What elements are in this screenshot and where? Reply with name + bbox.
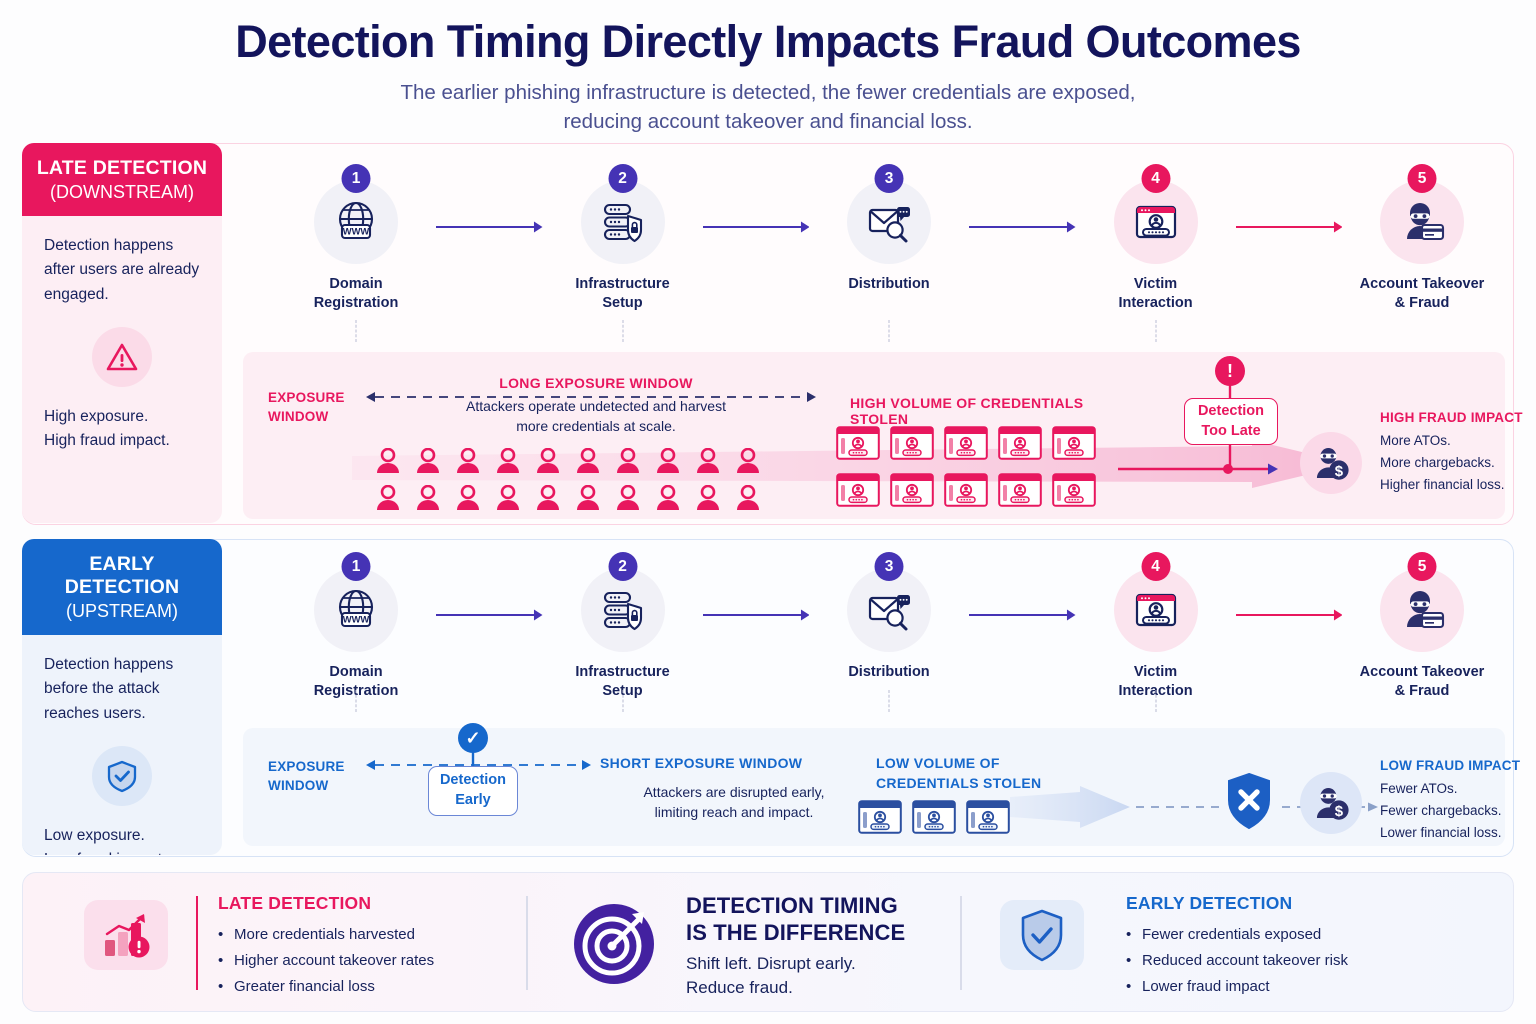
person-icon [694, 448, 722, 474]
late-step-distribution[interactable]: 3 Distribution [809, 168, 969, 294]
credential-card-icon [836, 473, 880, 512]
step-label-5-line2: & Fraud [1360, 294, 1485, 313]
svg-text:WWW: WWW [343, 226, 370, 237]
early-window-title: SHORT EXPOSURE WINDOW [600, 755, 860, 771]
early-window-text-1: Attackers are disrupted early, [598, 782, 870, 802]
person-icon [574, 448, 604, 479]
person-icon [734, 485, 762, 511]
person-icon [734, 448, 762, 474]
detection-early-line-2: Early [455, 791, 490, 811]
early-flow-ramp [1010, 786, 1130, 828]
step-tick-1 [356, 320, 357, 342]
step-label-4-line1: Victim [1118, 275, 1192, 294]
early-impact-title: LOW FRAUD IMPACT [1380, 758, 1520, 773]
late-step-account-takeover[interactable]: 5 Account Takeover & Fraud [1342, 168, 1502, 313]
early-step-account-takeover[interactable]: 5 Account Takeover & Fraud [1342, 556, 1502, 701]
person-icon [454, 485, 484, 516]
person-icon [574, 485, 602, 511]
summary-early-item-3: Lower fraud impact [1126, 974, 1426, 1000]
early-pipeline: 1 WWW Domain Registration [276, 556, 1502, 701]
step-label-4: Victim Interaction [1118, 275, 1192, 313]
late-side-footer-1: High exposure. [44, 405, 200, 429]
early-step-tick-4 [1155, 690, 1156, 712]
person-icon [374, 448, 404, 479]
person-icon [734, 448, 764, 479]
summary-late-item-1: More credentials harvested [218, 922, 518, 948]
early-impact-item-3: Lower financial loss. [1380, 822, 1502, 844]
summary-early-column [1000, 900, 1084, 970]
person-icon [414, 448, 444, 479]
person-icon [454, 485, 482, 511]
person-icon [654, 485, 684, 516]
summary-middle-title-2: IS THE DIFFERENCE [686, 920, 936, 947]
early-step-label-5-line1: Account Takeover [1360, 663, 1485, 682]
late-side-description: Detection happens after users are alread… [44, 234, 200, 307]
person-icon [494, 448, 524, 479]
credential-card-icon [1052, 473, 1096, 512]
early-step-badge-5: 5 [1408, 552, 1437, 581]
svg-text:$: $ [1335, 463, 1344, 480]
summary-middle-content: DETECTION TIMING IS THE DIFFERENCE Shift… [686, 893, 936, 999]
step-label-1-line2: Registration [314, 294, 399, 313]
summary-late-column [84, 900, 168, 970]
person-icon [534, 448, 562, 474]
early-step-domain-registration[interactable]: 1 WWW Domain Registration [276, 556, 436, 701]
svg-text:WWW: WWW [343, 614, 370, 625]
detection-too-late-line-2: Too Late [1201, 422, 1260, 442]
step-label-1-line1: Domain [314, 275, 399, 294]
late-detection-side-card: LATE DETECTION (DOWNSTREAM) Detection ha… [22, 143, 222, 523]
person-icon [734, 485, 764, 516]
summary-late-item-3: Greater financial loss [218, 974, 518, 1000]
late-impact-title: HIGH FRAUD IMPACT [1380, 410, 1523, 425]
person-icon [374, 485, 404, 516]
target-dart-icon [570, 898, 658, 991]
early-step-victim-interaction[interactable]: 4 Victim Interaction [1076, 556, 1236, 701]
step-label-3: Distribution [848, 275, 929, 294]
early-connector-3 [969, 556, 1076, 622]
credential-card-icon [998, 426, 1042, 465]
step-label-5: Account Takeover & Fraud [1360, 275, 1485, 313]
early-step-label-5-line2: & Fraud [1360, 682, 1485, 701]
person-icon [574, 485, 604, 516]
late-volume-title: HIGH VOLUME OF CREDENTIALS STOLEN [850, 395, 1110, 427]
infographic-root: Detection Timing Directly Impacts Fraud … [0, 0, 1536, 1024]
summary-early-title: EARLY DETECTION [1126, 893, 1426, 914]
step-badge-1: 1 [342, 164, 371, 193]
early-step-badge-4: 4 [1141, 552, 1170, 581]
late-step-victim-interaction[interactable]: 4 Victim Interaction [1076, 168, 1236, 313]
summary-middle-sub-2: Reduce fraud. [686, 977, 936, 999]
late-side-title: LATE DETECTION [32, 157, 212, 180]
early-step-badge-2: 2 [608, 552, 637, 581]
early-credential-cards [858, 800, 1018, 839]
summary-early-item-1: Fewer credentials exposed [1126, 922, 1426, 948]
person-icon [614, 448, 644, 479]
late-connector-1 [436, 168, 543, 234]
step-badge-4: 4 [1141, 164, 1170, 193]
person-icon [414, 485, 444, 516]
late-window-text-2: more credentials at scale. [426, 416, 766, 436]
early-connector-4 [1236, 556, 1343, 622]
person-icon [374, 448, 402, 474]
person-icon [694, 485, 724, 516]
person-icon [414, 485, 442, 511]
step-label-2-line1: Infrastructure [575, 275, 669, 294]
summary-early-content: EARLY DETECTION Fewer credentials expose… [1126, 893, 1426, 999]
late-exposure-line-1: EXPOSURE [268, 388, 345, 407]
early-dashed-left [1136, 800, 1226, 814]
credential-card-icon [912, 800, 956, 839]
early-side-footer-1: Low exposure. [44, 824, 200, 848]
detection-early-box[interactable]: Detection Early [428, 766, 518, 816]
detection-too-late-box[interactable]: Detection Too Late [1184, 398, 1278, 445]
person-icon [534, 485, 564, 516]
page-subtitle: The earlier phishing infrastructure is d… [0, 78, 1536, 136]
late-pipeline: 1 WWW Domain Registration [276, 168, 1502, 313]
early-step-label-4-line1: Victim [1118, 663, 1192, 682]
early-step-label-1-line1: Domain [314, 663, 399, 682]
step-tick-4 [1155, 320, 1156, 342]
early-exposure-window-label: EXPOSURE WINDOW [268, 757, 345, 795]
early-side-body: Detection happens before the attack reac… [22, 635, 222, 855]
summary-early-list: Fewer credentials exposed Reduced accoun… [1126, 922, 1426, 999]
person-icon [454, 448, 482, 474]
early-step-distribution[interactable]: 3 Distribution [809, 556, 969, 682]
early-step-infrastructure-setup[interactable]: 2 Infrastructure Setup [543, 556, 703, 701]
person-icon [654, 448, 682, 474]
person-icon [534, 448, 564, 479]
credential-card-icon [966, 800, 1010, 839]
person-icon [454, 448, 484, 479]
person-icon [614, 448, 642, 474]
step-label-2: Infrastructure Setup [575, 275, 669, 313]
late-impact-list: More ATOs. More chargebacks. Higher fina… [1380, 430, 1505, 496]
late-side-footer-2: High fraud impact. [44, 429, 200, 453]
summary-divider-1 [526, 896, 528, 990]
early-side-description: Detection happens before the attack reac… [44, 653, 200, 726]
summary-middle-sub-1: Shift left. Disrupt early. [686, 953, 936, 975]
early-impact-item-2: Fewer chargebacks. [1380, 800, 1502, 822]
rising-chart-alert-icon [84, 900, 168, 970]
early-exposure-line-2: WINDOW [268, 776, 345, 795]
late-connector-2 [703, 168, 810, 234]
step-badge-3: 3 [875, 164, 904, 193]
credential-card-icon [944, 473, 988, 512]
person-icon [654, 485, 682, 511]
late-exposure-line-2: WINDOW [268, 407, 345, 426]
early-step-label-3-line1: Distribution [848, 663, 929, 682]
summary-late-divider [196, 896, 198, 990]
exclamation-icon: ! [1215, 356, 1245, 386]
early-step-badge-3: 3 [875, 552, 904, 581]
person-icon [414, 448, 442, 474]
late-credential-cards [836, 426, 1096, 512]
early-side-subtitle: (UPSTREAM) [32, 601, 212, 622]
summary-late-content: LATE DETECTION More credentials harveste… [218, 893, 518, 999]
person-icon [494, 485, 522, 511]
step-badge-5: 5 [1408, 164, 1437, 193]
early-step-tick-2 [622, 690, 623, 712]
late-impact-item-2: More chargebacks. [1380, 452, 1505, 474]
svg-text:$: $ [1335, 803, 1344, 820]
early-impact-item-1: Fewer ATOs. [1380, 778, 1502, 800]
late-impact-item-1: More ATOs. [1380, 430, 1505, 452]
summary-early-item-2: Reduced account takeover risk [1126, 948, 1426, 974]
person-icon [694, 448, 724, 479]
late-side-subtitle: (DOWNSTREAM) [32, 182, 212, 203]
late-side-header: LATE DETECTION (DOWNSTREAM) [22, 143, 222, 216]
early-step-badge-1: 1 [342, 552, 371, 581]
early-side-title: EARLY DETECTION [32, 553, 212, 599]
late-window-text: Attackers operate undetected and harvest… [426, 396, 766, 437]
shield-check-icon [1000, 900, 1084, 970]
page-title: Detection Timing Directly Impacts Fraud … [0, 16, 1536, 68]
late-window-text-1: Attackers operate undetected and harvest [426, 396, 766, 416]
late-step-domain-registration[interactable]: 1 WWW Domain Registration [276, 168, 436, 313]
hacker-money-icon: $ [1300, 772, 1362, 834]
late-window-title: LONG EXPOSURE WINDOW [436, 375, 756, 391]
early-step-label-2-line1: Infrastructure [575, 663, 669, 682]
step-badge-2: 2 [608, 164, 637, 193]
late-impact-item-3: Higher financial loss. [1380, 474, 1505, 496]
person-icon [574, 448, 602, 474]
late-side-body: Detection happens after users are alread… [22, 216, 222, 454]
early-side-header: EARLY DETECTION (UPSTREAM) [22, 539, 222, 635]
early-detection-side-card: EARLY DETECTION (UPSTREAM) Detection hap… [22, 539, 222, 855]
step-tick-3 [889, 320, 890, 342]
hacker-money-icon: $ [1300, 432, 1362, 494]
check-icon: ✓ [458, 723, 488, 753]
credential-card-icon [890, 426, 934, 465]
step-tick-2 [622, 320, 623, 342]
summary-late-title: LATE DETECTION [218, 893, 518, 914]
subtitle-line-1: The earlier phishing infrastructure is d… [0, 78, 1536, 107]
early-connector-2 [703, 556, 810, 622]
early-step-label-5: Account Takeover & Fraud [1360, 663, 1485, 701]
early-window-text: Attackers are disrupted early, limiting … [598, 782, 870, 823]
credential-card-icon [998, 473, 1042, 512]
early-connector-1 [436, 556, 543, 622]
summary-divider-2 [960, 896, 962, 990]
late-connector-4 [1236, 168, 1343, 234]
credential-card-icon [836, 426, 880, 465]
person-icon [494, 485, 524, 516]
step-label-1: Domain Registration [314, 275, 399, 313]
subtitle-line-2: reducing account takeover and financial … [0, 107, 1536, 136]
summary-late-item-2: Higher account takeover rates [218, 948, 518, 974]
person-icon [614, 485, 644, 516]
step-label-3-line1: Distribution [848, 275, 929, 294]
early-step-label-3: Distribution [848, 663, 929, 682]
late-victims-group [374, 448, 794, 516]
credential-card-icon [858, 800, 902, 839]
summary-middle-title-1: DETECTION TIMING [686, 893, 936, 920]
early-side-footer-2: Low fraud impact. [44, 848, 200, 855]
late-exposure-window-label: EXPOSURE WINDOW [268, 388, 345, 426]
early-volume-title-1: LOW VOLUME OF [876, 753, 1086, 773]
person-icon [654, 448, 684, 479]
early-step-tick-1 [356, 690, 357, 712]
late-step-infrastructure-setup[interactable]: 2 Infrastructure Setup [543, 168, 703, 313]
credential-card-icon [944, 426, 988, 465]
step-label-2-line2: Setup [575, 294, 669, 313]
header: Detection Timing Directly Impacts Fraud … [0, 0, 1536, 136]
early-side-icon-wrap [44, 746, 200, 806]
step-label-4-line2: Interaction [1118, 294, 1192, 313]
person-icon [614, 485, 642, 511]
credential-card-icon [890, 473, 934, 512]
credential-card-icon [1052, 426, 1096, 465]
step-label-5-line1: Account Takeover [1360, 275, 1485, 294]
late-impact-arrow [1118, 461, 1278, 477]
person-icon [374, 485, 402, 511]
early-impact-list: Fewer ATOs. Fewer chargebacks. Lower fin… [1380, 778, 1502, 844]
shield-x-icon [1226, 772, 1272, 835]
summary-late-list: More credentials harvested Higher accoun… [218, 922, 518, 999]
early-step-tick-3 [889, 690, 890, 712]
late-connector-3 [969, 168, 1076, 234]
early-window-text-2: limiting reach and impact. [598, 802, 870, 822]
warning-triangle-icon [92, 327, 152, 387]
detection-too-late-line-1: Detection [1198, 402, 1264, 422]
early-exposure-line-1: EXPOSURE [268, 757, 345, 776]
late-side-icon-wrap [44, 327, 200, 387]
detection-early-line-1: Detection [440, 771, 506, 791]
person-icon [534, 485, 562, 511]
shield-check-icon [92, 746, 152, 806]
person-icon [694, 485, 722, 511]
person-icon [494, 448, 522, 474]
